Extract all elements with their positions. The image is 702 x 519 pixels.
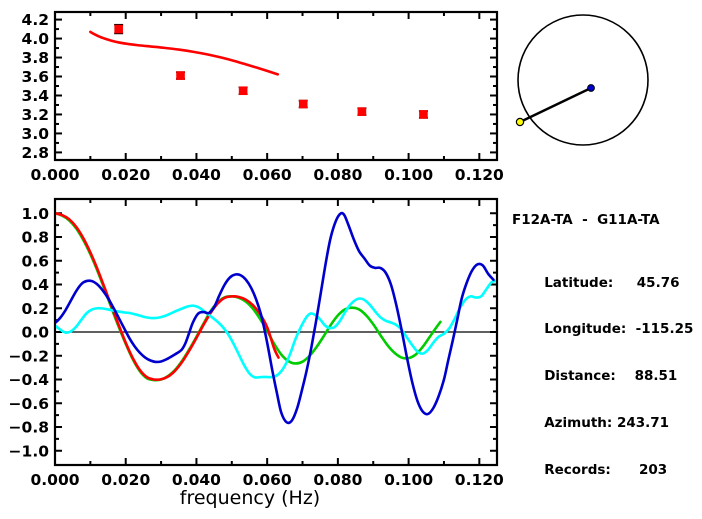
figure-canvas: 0.0000.0200.0400.0600.0800.1000.1202.83.… — [0, 0, 702, 519]
info-row-distance: Distance: 88.51 — [512, 354, 702, 370]
y-tick-label: 3.4 — [22, 87, 50, 105]
info-label-distance: Distance: — [544, 368, 616, 384]
x-tick-label: 0.060 — [243, 166, 292, 184]
info-spacer-records — [611, 462, 639, 478]
x-tick-label: 0.080 — [313, 166, 362, 184]
info-spacer-distance — [616, 368, 635, 384]
dispersion-data-point — [357, 108, 366, 116]
info-row-records: Records: 203 — [512, 447, 702, 463]
station-pair-info: F12A-TA - G11A-TA Latitude: 45.76 Longit… — [512, 182, 702, 494]
info-row-latitude: Latitude: 45.76 — [512, 260, 702, 276]
info-value-records: 203 — [639, 462, 667, 478]
info-label-longitude: Longitude: — [544, 321, 626, 337]
x-axis-label: frequency (Hz) — [0, 487, 500, 509]
dispersion-model-curve — [90, 32, 277, 74]
info-label-azimuth: Azimuth: — [544, 415, 612, 431]
dispersion-data-point — [176, 72, 185, 80]
dispersion-data-point — [419, 110, 428, 118]
y-tick-label: 3.6 — [22, 68, 49, 86]
info-spacer-longitude — [626, 321, 635, 337]
x-tick-label: 0.020 — [101, 166, 150, 184]
info-value-longitude: -115.25 — [636, 321, 694, 337]
x-tick-label: 0.120 — [455, 166, 504, 184]
y-tick-label: 3.2 — [22, 106, 49, 124]
dispersion-data-point — [114, 25, 123, 34]
station-pair-title: F12A-TA - G11A-TA — [512, 213, 702, 229]
info-value-latitude: 45.76 — [637, 275, 680, 291]
x-tick-label: 0.000 — [30, 166, 79, 184]
info-value-azimuth: 243.71 — [617, 415, 669, 431]
dispersion-data-point — [299, 100, 308, 108]
x-tick-label: 0.040 — [172, 166, 221, 184]
dispersion-data-point — [239, 87, 248, 95]
info-row-longitude: Longitude: -115.25 — [512, 307, 702, 323]
info-label-records: Records: — [544, 462, 611, 478]
y-tick-label: 4.0 — [22, 30, 50, 48]
info-spacer-latitude — [613, 275, 637, 291]
y-tick-label: 4.2 — [22, 11, 49, 29]
info-label-latitude: Latitude: — [544, 275, 613, 291]
y-tick-label: 3.8 — [22, 49, 49, 67]
info-value-distance: 88.51 — [635, 368, 678, 384]
y-tick-label: 2.8 — [22, 144, 49, 162]
info-row-azimuth: Azimuth: 243.71 — [512, 400, 702, 416]
y-tick-label: 3.0 — [22, 125, 50, 143]
x-tick-label: 0.100 — [384, 166, 433, 184]
